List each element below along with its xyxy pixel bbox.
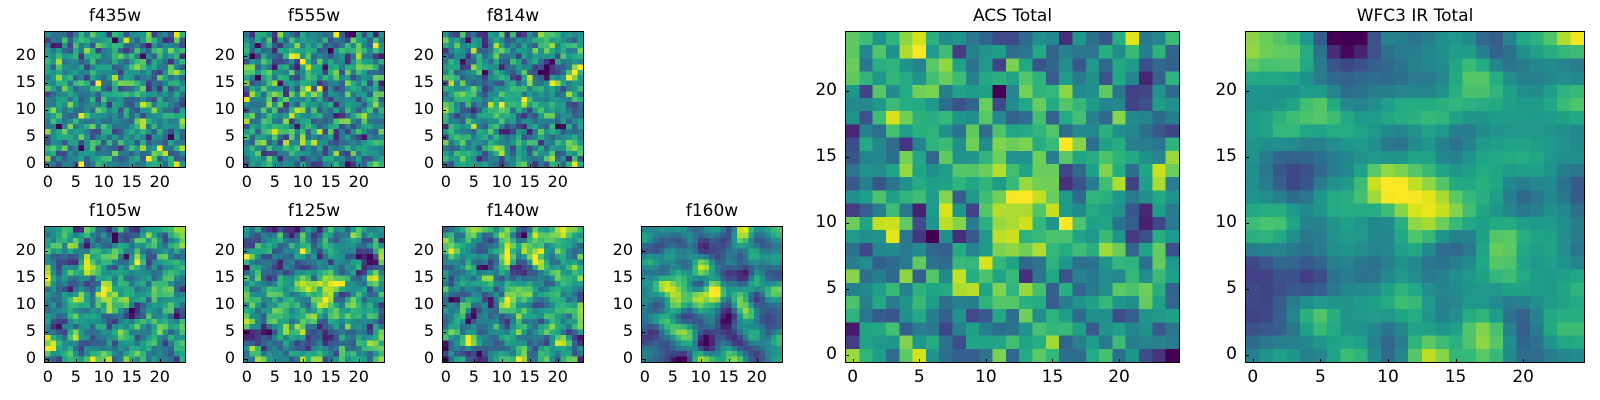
xtick-mark-f105w-10 — [104, 359, 105, 363]
ytick-label-acs_total-0: 0 — [785, 346, 837, 362]
ytick-label-wfc3_ir_total-5: 5 — [1185, 280, 1237, 296]
panel-acs_total: ACS Total0510152005101520 — [785, 5, 1210, 397]
ytick-mark-f140w-15 — [442, 278, 446, 279]
ytick-label-f140w-5: 5 — [382, 323, 434, 339]
panel-f555w: f555w0510152005101520 — [183, 5, 415, 202]
xtick-mark-f555w-20 — [359, 164, 360, 168]
ytick-label-f140w-0: 0 — [382, 350, 434, 366]
ytick-mark-f125w-15 — [243, 278, 247, 279]
heatmap-f140w — [442, 226, 584, 363]
xtick-mark-f555w-15 — [331, 164, 332, 168]
xtick-mark-f125w-10 — [303, 359, 304, 363]
xtick-label-wfc3_ir_total-10: 10 — [1363, 369, 1413, 385]
ytick-mark-f555w-10 — [243, 110, 247, 111]
heatmap-canvas-f105w — [45, 227, 185, 362]
ytick-label-f555w-20: 20 — [183, 47, 235, 63]
heatmap-acs_total — [845, 31, 1180, 363]
ytick-mark-f125w-20 — [243, 251, 247, 252]
xtick-mark-f435w-15 — [132, 164, 133, 168]
panel-title-acs_total: ACS Total — [845, 8, 1180, 25]
ytick-mark-f105w-0 — [44, 359, 48, 360]
xtick-label-acs_total-15: 15 — [1027, 369, 1077, 385]
ytick-mark-f105w-5 — [44, 332, 48, 333]
panel-title-f105w: f105w — [44, 203, 186, 220]
ytick-label-wfc3_ir_total-15: 15 — [1185, 148, 1237, 164]
panel-f814w: f814w0510152005101520 — [382, 5, 614, 202]
xtick-mark-wfc3_ir_total-0 — [1253, 359, 1254, 363]
ytick-mark-f140w-5 — [442, 332, 446, 333]
ytick-label-f435w-15: 15 — [0, 74, 36, 90]
xtick-mark-acs_total-20 — [1119, 359, 1120, 363]
xtick-label-wfc3_ir_total-20: 20 — [1498, 369, 1548, 385]
ytick-label-f435w-0: 0 — [0, 155, 36, 171]
ytick-mark-f555w-15 — [243, 83, 247, 84]
xtick-label-f125w-20: 20 — [334, 369, 384, 385]
ytick-mark-f435w-15 — [44, 83, 48, 84]
panel-title-f435w: f435w — [44, 8, 186, 25]
xtick-mark-f160w-5 — [673, 359, 674, 363]
ytick-mark-f125w-0 — [243, 359, 247, 360]
xtick-mark-f140w-5 — [474, 359, 475, 363]
ytick-label-f160w-5: 5 — [581, 323, 633, 339]
xtick-mark-f555w-5 — [275, 164, 276, 168]
ytick-label-acs_total-15: 15 — [785, 148, 837, 164]
xtick-mark-acs_total-5 — [919, 359, 920, 363]
panel-title-f160w: f160w — [641, 203, 783, 220]
ytick-mark-wfc3_ir_total-5 — [1245, 289, 1249, 290]
ytick-label-f125w-15: 15 — [183, 269, 235, 285]
ytick-label-f814w-5: 5 — [382, 128, 434, 144]
xtick-mark-f140w-10 — [502, 359, 503, 363]
ytick-mark-f160w-10 — [641, 305, 645, 306]
ytick-label-f140w-15: 15 — [382, 269, 434, 285]
xtick-label-wfc3_ir_total-5: 5 — [1295, 369, 1345, 385]
ytick-label-acs_total-5: 5 — [785, 280, 837, 296]
heatmap-f160w — [641, 226, 783, 363]
xtick-mark-f105w-5 — [76, 359, 77, 363]
heatmap-f125w — [243, 226, 385, 363]
xtick-mark-f814w-20 — [558, 164, 559, 168]
panel-title-wfc3_ir_total: WFC3 IR Total — [1245, 8, 1585, 25]
ytick-label-f140w-10: 10 — [382, 296, 434, 312]
ytick-label-wfc3_ir_total-10: 10 — [1185, 214, 1237, 230]
xtick-mark-f125w-15 — [331, 359, 332, 363]
ytick-label-f105w-5: 5 — [0, 323, 36, 339]
ytick-label-f435w-5: 5 — [0, 128, 36, 144]
ytick-mark-f160w-5 — [641, 332, 645, 333]
xtick-label-f105w-20: 20 — [135, 369, 185, 385]
xtick-label-f140w-20: 20 — [533, 369, 583, 385]
xtick-mark-acs_total-15 — [1052, 359, 1053, 363]
ytick-mark-f814w-0 — [442, 164, 446, 165]
ytick-label-acs_total-10: 10 — [785, 214, 837, 230]
ytick-mark-wfc3_ir_total-20 — [1245, 91, 1249, 92]
ytick-label-f125w-20: 20 — [183, 242, 235, 258]
heatmap-canvas-f160w — [642, 227, 782, 362]
ytick-label-wfc3_ir_total-0: 0 — [1185, 346, 1237, 362]
xtick-mark-acs_total-10 — [986, 359, 987, 363]
xtick-mark-wfc3_ir_total-10 — [1388, 359, 1389, 363]
ytick-label-f105w-20: 20 — [0, 242, 36, 258]
ytick-label-f140w-20: 20 — [382, 242, 434, 258]
ytick-label-f814w-0: 0 — [382, 155, 434, 171]
ytick-mark-f435w-5 — [44, 137, 48, 138]
ytick-label-f435w-10: 10 — [0, 101, 36, 117]
xtick-mark-f160w-10 — [701, 359, 702, 363]
ytick-mark-f814w-15 — [442, 83, 446, 84]
ytick-mark-acs_total-0 — [845, 355, 849, 356]
ytick-mark-wfc3_ir_total-0 — [1245, 355, 1249, 356]
ytick-label-f555w-10: 10 — [183, 101, 235, 117]
xtick-mark-wfc3_ir_total-15 — [1456, 359, 1457, 363]
xtick-mark-f140w-20 — [558, 359, 559, 363]
panel-f125w: f125w0510152005101520 — [183, 200, 415, 397]
ytick-mark-f435w-20 — [44, 56, 48, 57]
panel-wfc3_ir_total: WFC3 IR Total0510152005101520 — [1185, 5, 1600, 397]
ytick-mark-f140w-0 — [442, 359, 446, 360]
ytick-mark-acs_total-20 — [845, 91, 849, 92]
ytick-mark-f160w-15 — [641, 278, 645, 279]
ytick-mark-f140w-20 — [442, 251, 446, 252]
ytick-label-f160w-0: 0 — [581, 350, 633, 366]
ytick-mark-f160w-0 — [641, 359, 645, 360]
xtick-mark-f140w-15 — [530, 359, 531, 363]
panel-title-f814w: f814w — [442, 8, 584, 25]
xtick-mark-f814w-15 — [530, 164, 531, 168]
ytick-label-f814w-20: 20 — [382, 47, 434, 63]
ytick-label-f160w-10: 10 — [581, 296, 633, 312]
ytick-mark-f435w-0 — [44, 164, 48, 165]
ytick-label-f555w-0: 0 — [183, 155, 235, 171]
xtick-mark-f555w-10 — [303, 164, 304, 168]
heatmap-canvas-f555w — [244, 32, 384, 167]
ytick-mark-f814w-20 — [442, 56, 446, 57]
xtick-mark-f125w-20 — [359, 359, 360, 363]
xtick-label-f814w-20: 20 — [533, 174, 583, 190]
ytick-mark-acs_total-10 — [845, 223, 849, 224]
xtick-mark-f435w-5 — [76, 164, 77, 168]
ytick-label-acs_total-20: 20 — [785, 82, 837, 98]
xtick-label-acs_total-5: 5 — [894, 369, 944, 385]
ytick-mark-f555w-0 — [243, 164, 247, 165]
ytick-label-f105w-15: 15 — [0, 269, 36, 285]
xtick-label-wfc3_ir_total-0: 0 — [1228, 369, 1278, 385]
ytick-mark-wfc3_ir_total-15 — [1245, 157, 1249, 158]
xtick-mark-f160w-15 — [729, 359, 730, 363]
xtick-mark-wfc3_ir_total-5 — [1320, 359, 1321, 363]
figure-canvas: f435w0510152005101520f555w05101520051015… — [0, 0, 1600, 400]
panel-title-f125w: f125w — [243, 203, 385, 220]
xtick-mark-f435w-20 — [160, 164, 161, 168]
xtick-label-acs_total-10: 10 — [961, 369, 1011, 385]
xtick-mark-f105w-20 — [160, 359, 161, 363]
heatmap-canvas-f140w — [443, 227, 583, 362]
xtick-mark-acs_total-0 — [853, 359, 854, 363]
panel-title-f555w: f555w — [243, 8, 385, 25]
panel-title-f140w: f140w — [442, 203, 584, 220]
ytick-mark-acs_total-5 — [845, 289, 849, 290]
xtick-mark-f105w-15 — [132, 359, 133, 363]
ytick-label-f125w-10: 10 — [183, 296, 235, 312]
xtick-label-acs_total-20: 20 — [1094, 369, 1144, 385]
heatmap-canvas-f125w — [244, 227, 384, 362]
heatmap-canvas-acs_total — [846, 32, 1179, 362]
heatmap-f435w — [44, 31, 186, 168]
ytick-mark-f814w-5 — [442, 137, 446, 138]
xtick-mark-f814w-10 — [502, 164, 503, 168]
xtick-label-f160w-20: 20 — [732, 369, 782, 385]
ytick-mark-f435w-10 — [44, 110, 48, 111]
xtick-label-wfc3_ir_total-15: 15 — [1431, 369, 1481, 385]
ytick-label-f125w-0: 0 — [183, 350, 235, 366]
ytick-label-f555w-5: 5 — [183, 128, 235, 144]
xtick-mark-f125w-5 — [275, 359, 276, 363]
ytick-label-f435w-20: 20 — [0, 47, 36, 63]
heatmap-f555w — [243, 31, 385, 168]
ytick-label-f555w-15: 15 — [183, 74, 235, 90]
xtick-mark-f814w-5 — [474, 164, 475, 168]
xtick-mark-wfc3_ir_total-20 — [1523, 359, 1524, 363]
xtick-label-f555w-20: 20 — [334, 174, 384, 190]
ytick-mark-f555w-20 — [243, 56, 247, 57]
panel-f160w: f160w0510152005101520 — [581, 200, 813, 397]
ytick-mark-f105w-15 — [44, 278, 48, 279]
ytick-label-f125w-5: 5 — [183, 323, 235, 339]
xtick-label-acs_total-0: 0 — [828, 369, 878, 385]
ytick-mark-f125w-5 — [243, 332, 247, 333]
ytick-label-f160w-20: 20 — [581, 242, 633, 258]
heatmap-canvas-f435w — [45, 32, 185, 167]
ytick-mark-f105w-20 — [44, 251, 48, 252]
ytick-label-f105w-0: 0 — [0, 350, 36, 366]
heatmap-f814w — [442, 31, 584, 168]
ytick-label-f105w-10: 10 — [0, 296, 36, 312]
ytick-mark-f140w-10 — [442, 305, 446, 306]
heatmap-canvas-f814w — [443, 32, 583, 167]
xtick-mark-f160w-20 — [757, 359, 758, 363]
ytick-mark-f105w-10 — [44, 305, 48, 306]
heatmap-f105w — [44, 226, 186, 363]
xtick-label-f435w-20: 20 — [135, 174, 185, 190]
ytick-mark-f160w-20 — [641, 251, 645, 252]
heatmap-wfc3_ir_total — [1245, 31, 1585, 363]
xtick-mark-f435w-10 — [104, 164, 105, 168]
ytick-label-wfc3_ir_total-20: 20 — [1185, 82, 1237, 98]
ytick-label-f814w-10: 10 — [382, 101, 434, 117]
ytick-mark-f814w-10 — [442, 110, 446, 111]
ytick-label-f814w-15: 15 — [382, 74, 434, 90]
ytick-label-f160w-15: 15 — [581, 269, 633, 285]
ytick-mark-wfc3_ir_total-10 — [1245, 223, 1249, 224]
ytick-mark-f125w-10 — [243, 305, 247, 306]
ytick-mark-acs_total-15 — [845, 157, 849, 158]
heatmap-canvas-wfc3_ir_total — [1246, 32, 1584, 362]
ytick-mark-f555w-5 — [243, 137, 247, 138]
panel-f140w: f140w0510152005101520 — [382, 200, 614, 397]
